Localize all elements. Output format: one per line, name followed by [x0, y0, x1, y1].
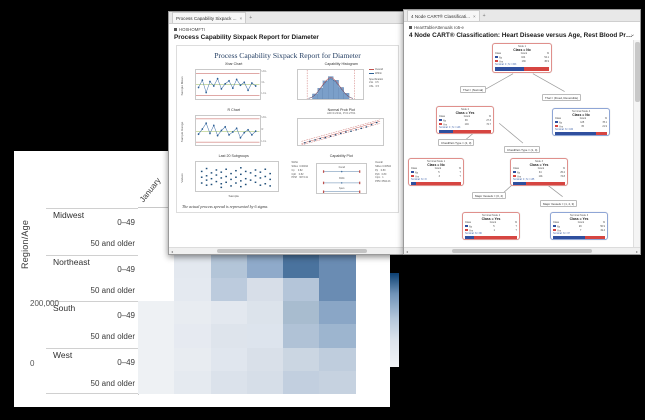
heatmap-cell[interactable] [283, 371, 319, 394]
histogram-legend: Overall Within Specification LSL 0.5 USL… [369, 68, 394, 88]
svg-text:Specs: Specs [339, 188, 345, 190]
panel-caption: Capability Plot [289, 154, 395, 158]
heatmap-cell[interactable] [319, 278, 355, 301]
table-icon [409, 26, 412, 29]
row-sub-label: 50 and older [91, 332, 135, 341]
sixpack-tab[interactable]: Process Capability Sixpack ... × [172, 12, 246, 23]
heatmap-row-group-south: South 0–49 50 and older [46, 301, 138, 348]
tree-node-terminal-4[interactable]: Terminal Node 4 Class = No ClassCount% N… [552, 108, 610, 136]
node-row-count: 139 [522, 60, 526, 64]
node-table: ClassCount% No5? Yes1? [463, 221, 519, 232]
sixpack-source-label: HOSHOMFTI [179, 27, 205, 32]
sixpack-horizontal-scrollbar[interactable]: ◂ ▸ [169, 247, 414, 254]
split-label-vessels-123: Major Vessels = (1, 2, 3) [540, 200, 577, 207]
node-table: ClassCount% No16454.1 Yes13945.9 [493, 52, 551, 63]
node-link[interactable]: Terminal: N = 80 [463, 233, 519, 235]
node-table: ClassCount% No12578.1 Yes3521.9 [553, 117, 609, 128]
node-proportion-bar [495, 67, 549, 71]
heatmap-row-group-northeast: Northeast 0–49 50 and older [46, 255, 138, 302]
panel-y-label: Sample Range [180, 122, 184, 142]
panel-capability-plot: Capability Plot WithinStDev 0.00494Cp 0.… [289, 154, 395, 198]
heatmap-cell[interactable] [174, 301, 210, 324]
tree-node-root[interactable]: Node 1 Class = No ClassCount% No16454.1 … [492, 43, 552, 73]
heatmap-legend-gradient [390, 273, 399, 367]
node-table: ClassCount% No3927.3 Yes10472.7 [437, 115, 493, 126]
heatmap-cell[interactable] [138, 301, 174, 324]
heatmap-color-legend [390, 273, 399, 367]
node-proportion-bar [411, 182, 461, 186]
heatmap-cell[interactable] [211, 348, 247, 371]
node-row-pct: ? [516, 229, 517, 233]
node-row-count: 7 [580, 229, 581, 233]
cart-tab-label: 4 Node CART® Classificati... [411, 14, 470, 19]
tree-node-terminal-3[interactable]: Terminal Node 3 Class = Yes ClassCount% … [550, 212, 608, 240]
panel-normal-prob-plot: Normal Prob Plot AD=0.2311, P=0.2761 [289, 108, 395, 152]
sixpack-tab-strip[interactable]: Process Capability Sixpack ... × + [169, 12, 414, 24]
scrollbar-thumb[interactable] [452, 249, 592, 253]
split-label-thal-fixed: Thal = (Fixed, Reversible) [542, 94, 581, 101]
row-group-name: Northeast [53, 257, 90, 267]
node-row-count: 35 [581, 125, 584, 129]
heatmap-cell[interactable] [319, 255, 355, 278]
node-link[interactable]: Terminal: 0 ; N = 143 [437, 127, 493, 129]
node-proportion-bar [553, 236, 605, 240]
panel-last-20-subgroups: Last 20 Subgroups Values [181, 154, 287, 198]
node-row-label: Yes [559, 125, 563, 128]
sixpack-header: HOSHOMFTI Process Capability Sixpack Rep… [169, 24, 414, 43]
heatmap-cell[interactable] [319, 324, 355, 347]
sixpack-report-sheet: Process Capability Sixpack Report for Di… [176, 45, 399, 213]
sixpack-body: Process Capability Sixpack Report for Di… [169, 42, 414, 254]
row-sub-label: 50 and older [91, 379, 135, 388]
node-proportion-bar [513, 182, 565, 186]
histogram-plot-area [297, 69, 365, 100]
node-proportion-bar [465, 236, 517, 240]
panel-r-chart: R Chart Sample Range [181, 108, 287, 152]
xbar-plot-area [195, 69, 261, 100]
sixpack-tab-label: Process Capability Sixpack ... [176, 16, 237, 21]
capability-plot-area: Overall Within Specs [316, 163, 368, 194]
node-table: ClassCount% No2950.9 Yes719.4 [551, 221, 607, 232]
cart-horizontal-scrollbar[interactable]: ◂ ▸ [404, 247, 640, 254]
heatmap-row-labels: Midwest 0–49 50 and older Northeast 0–49… [46, 208, 138, 394]
node-row-pct: ? [460, 175, 461, 179]
heatmap-cell[interactable] [174, 278, 210, 301]
new-tab-button[interactable]: + [480, 10, 489, 21]
panel-side-annotations: UCL CL LCL [262, 70, 287, 96]
heatmap-row-group-west: West 0–49 50 and older [46, 348, 138, 395]
new-tab-button[interactable]: + [246, 12, 255, 23]
heatmap-cell[interactable] [138, 255, 174, 278]
node-row-label: Yes [499, 60, 503, 63]
sixpack-panel-grid: Xbar Chart Sample Mean [181, 62, 394, 198]
panel-caption: Last 20 Subgroups [181, 154, 287, 158]
heatmap-cell[interactable] [138, 278, 174, 301]
panel-y-label: Sample Mean [180, 76, 184, 95]
node-link[interactable]: Terminal: 0 ; N = 303 [493, 64, 551, 66]
cart-source-label: HeartTableAttenuals ro5-e [414, 25, 464, 30]
node-row-label: Yes [517, 175, 521, 178]
tree-node-2[interactable]: Node 2 Class = Yes ClassCount% No3927.3 … [436, 106, 494, 134]
heatmap-cell[interactable] [211, 324, 247, 347]
node-proportion-bar [439, 130, 491, 134]
cart-body: Node 1 Class = No ClassCount% No16454.1 … [404, 40, 640, 254]
chevron-down-icon[interactable]: ⌄ [630, 31, 635, 38]
cart-header: HeartTableAttenuals ro5-e 4 Node CART® C… [404, 22, 640, 41]
tree-node-3[interactable]: Node 3 Class = Yes ClassCount% No3425.2 … [510, 158, 568, 186]
heatmap-cell[interactable] [174, 255, 210, 278]
node-proportion-bar [555, 132, 607, 136]
scroll-right-icon[interactable]: ▸ [636, 249, 638, 254]
node-row-pct: 72.7 [486, 123, 491, 127]
svg-text:Within: Within [339, 177, 345, 180]
heatmap-cell[interactable] [138, 348, 174, 371]
row-sub-label: 0–49 [117, 265, 135, 274]
tree-node-terminal-1[interactable]: Terminal Node 1 Class = No ClassCount% N… [408, 158, 464, 186]
heatmap-column-header-january: January [138, 176, 163, 204]
panel-caption: Capability Histogram [289, 62, 395, 66]
panel-y-label: Values [180, 173, 184, 182]
panel-subcaption: AD=0.2311, P=0.2761 [289, 112, 395, 115]
heatmap-cell[interactable] [174, 324, 210, 347]
node-table: ClassCount% No5? Yes3? [409, 167, 463, 178]
capability-stats-right: OverallStDev 0.00504Pp 0.80 PpK 0.80Cpm … [375, 161, 391, 184]
panel-caption: R Chart [181, 108, 287, 112]
panel-capability-histogram: Capability Histogram [289, 62, 395, 106]
row-group-name: Midwest [53, 210, 84, 220]
heatmap-cell[interactable] [283, 255, 319, 278]
heatmap-cell[interactable] [247, 324, 283, 347]
close-icon[interactable]: × [240, 16, 243, 21]
scroll-left-icon[interactable]: ◂ [406, 249, 408, 254]
cart-source-row: HeartTableAttenuals ro5-e [409, 25, 635, 30]
screenshot-root: Region/Age January Midwest 0–49 50 and o… [0, 0, 645, 420]
node-row-pct: 74.8 [560, 175, 565, 179]
probplot-plot-area [297, 118, 385, 146]
heatmap-row-group-midwest: Midwest 0–49 50 and older [46, 208, 138, 255]
node-row-count: 101 [539, 175, 543, 179]
panel-side-annotations: UCL R LCL [262, 116, 287, 144]
heatmap-cell[interactable] [319, 371, 355, 394]
split-label-vessels-04: Major Vessels = (0, 4) [472, 192, 506, 199]
panel-x-label: Sample [181, 194, 287, 198]
node-row-label: Yes [469, 229, 473, 232]
node-row-label: Yes [443, 123, 447, 126]
sixpack-footer-note: The actual process spread is represented… [182, 204, 268, 209]
heatmap-cell[interactable] [138, 371, 174, 394]
heatmap-cell[interactable] [247, 348, 283, 371]
node-row-count: 3 [439, 175, 440, 179]
cart-vertical-scrollbar[interactable] [633, 40, 640, 247]
heatmap-cell[interactable] [283, 348, 319, 371]
heatmap-legend-max: 200,000 [30, 299, 59, 308]
heatmap-cell[interactable] [247, 255, 283, 278]
heatmap-cell[interactable] [211, 371, 247, 394]
decision-tree-canvas: Node 1 Class = No ClassCount% No16454.1 … [404, 40, 640, 254]
sixpack-source-row: HOSHOMFTI [174, 27, 409, 32]
panel-xbar-chart: Xbar Chart Sample Mean [181, 62, 287, 106]
heatmap-cell[interactable] [283, 324, 319, 347]
node-row-label: Yes [557, 229, 561, 232]
cart-tab-strip[interactable]: 4 Node CART® Classificati... × + [404, 10, 640, 22]
heatmap-cell[interactable] [247, 301, 283, 324]
split-label-chestpain-14: ChestPain Type = (1, 4) [504, 146, 540, 153]
node-link[interactable]: Terminal: N = 160 [553, 129, 609, 131]
node-link[interactable]: Terminal: N = 8 [409, 179, 463, 181]
r-chart-plot-area [195, 115, 261, 146]
tree-node-terminal-2[interactable]: Terminal Node 2 Class = Yes ClassCount% … [462, 212, 520, 240]
split-label-thal-normal: Thal = (Normal) [460, 86, 486, 93]
node-row-count: 104 [465, 123, 469, 127]
node-row-pct: 19.4 [600, 229, 605, 233]
heatmap-cell[interactable] [211, 278, 247, 301]
split-label-chestpain-23: ChestPain Type = (2, 3) [438, 139, 474, 146]
panel-caption: Xbar Chart [181, 62, 287, 66]
close-icon[interactable]: × [473, 14, 476, 19]
heatmap-cell[interactable] [174, 371, 210, 394]
sixpack-window-title: Process Capability Sixpack Report for Di… [174, 34, 409, 41]
table-icon [174, 28, 177, 31]
row-sub-label: 50 and older [91, 286, 135, 295]
subgroups-plot-area [195, 161, 279, 192]
heatmap-cell[interactable] [283, 301, 319, 324]
cart-tab[interactable]: 4 Node CART® Classificati... × [407, 10, 480, 21]
heatmap-cell[interactable] [174, 348, 210, 371]
heatmap-legend-min: 0 [30, 359, 34, 368]
cart-report-window[interactable]: 4 Node CART® Classificati... × + HeartTa… [403, 9, 641, 255]
heatmap-cell[interactable] [211, 255, 247, 278]
row-sub-label: 0–49 [117, 218, 135, 227]
node-link[interactable]: Terminal: N = 37 [551, 233, 607, 235]
scroll-left-icon[interactable]: ◂ [171, 249, 173, 254]
node-link[interactable]: Terminal: 0 ; N = 135 [511, 179, 567, 181]
heatmap-cell[interactable] [319, 301, 355, 324]
sixpack-report-title: Process Capability Sixpack Report for Di… [177, 51, 398, 60]
heatmap-cell[interactable] [211, 301, 247, 324]
heatmap-cell[interactable] [138, 324, 174, 347]
heatmap-cell[interactable] [283, 278, 319, 301]
row-sub-label: 0–49 [117, 358, 135, 367]
capability-stats-left: WithinStDev 0.00494Cp 0.82 CpK 0.82PPM 6… [292, 161, 308, 180]
scrollbar-thumb[interactable] [217, 249, 367, 253]
heatmap-cell[interactable] [247, 371, 283, 394]
node-row-count: 1 [494, 229, 495, 233]
row-sub-label: 50 and older [91, 239, 135, 248]
row-sub-label: 0–49 [117, 311, 135, 320]
row-group-name: West [53, 350, 72, 360]
node-row-label: Yes [415, 175, 419, 178]
cart-window-title: 4 Node CART® Classification: Heart Disea… [409, 32, 635, 39]
node-row-pct: 21.9 [602, 125, 607, 129]
heatmap-cell[interactable] [319, 348, 355, 371]
heatmap-y-axis-label: Region/Age [20, 220, 30, 269]
svg-text:Overall: Overall [338, 166, 345, 169]
scrollbar-thumb[interactable] [635, 42, 640, 102]
node-row-pct: 45.9 [544, 60, 549, 64]
node-table: ClassCount% No3425.2 Yes10174.8 [511, 167, 567, 178]
sixpack-report-window[interactable]: Process Capability Sixpack ... × + HOSHO… [168, 11, 415, 255]
heatmap-cell[interactable] [247, 278, 283, 301]
